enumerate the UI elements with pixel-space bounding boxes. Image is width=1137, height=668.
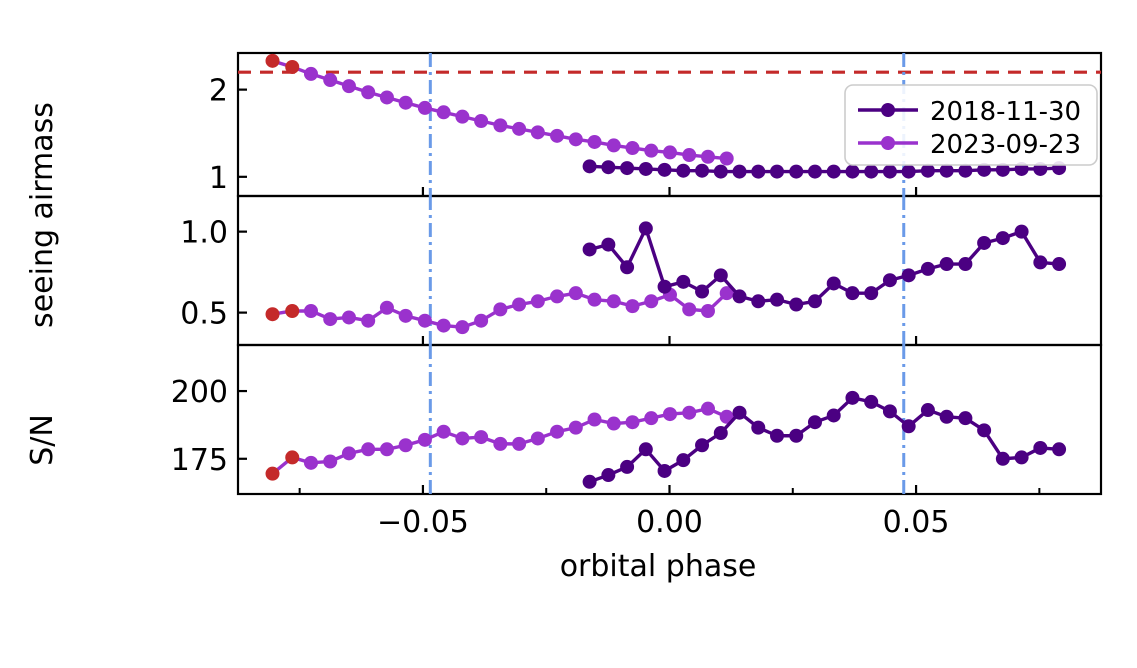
data-point-2023-09-23-6 <box>380 301 394 315</box>
data-point-2018-11-30-25 <box>1052 257 1066 271</box>
data-point-2018-11-30-14 <box>845 391 859 405</box>
xtick-label-0: −0.05 <box>377 505 469 540</box>
data-point-2023-09-23-12 <box>493 118 507 132</box>
data-point-2023-09-23-10 <box>455 110 469 124</box>
data-point-2018-11-30-20 <box>958 411 972 425</box>
data-point-2018-11-30-24 <box>1033 441 1047 455</box>
data-point-2018-11-30-9 <box>751 165 765 179</box>
data-point-2023-09-23-22 <box>682 148 696 162</box>
data-point-2018-11-30-3 <box>639 162 653 176</box>
data-point-2023-09-23-5 <box>361 85 375 99</box>
data-point-2023-09-23-14 <box>531 125 545 139</box>
data-point-2023-09-23-19 <box>626 415 640 429</box>
data-point-2023-09-23-7 <box>399 309 413 323</box>
data-point-2018-11-30-17 <box>902 165 916 179</box>
data-point-2023-09-23-1 <box>285 304 299 318</box>
data-point-2018-11-30-18 <box>921 262 935 276</box>
ytick-label-top-0: 1 <box>209 161 228 196</box>
data-point-2023-09-23-19 <box>626 299 640 313</box>
data-point-2018-11-30-16 <box>883 273 897 287</box>
data-point-2018-11-30-6 <box>695 438 709 452</box>
data-point-2018-11-30-15 <box>864 395 878 409</box>
data-point-2018-11-30-7 <box>714 165 728 179</box>
legend-label-0: 2018-11-30 <box>930 97 1081 127</box>
series-line-2023-09-23 <box>273 61 727 159</box>
data-point-2023-09-23-3 <box>323 454 337 468</box>
data-point-2018-11-30-15 <box>864 165 878 179</box>
panel-bottom <box>238 345 1066 494</box>
data-point-2018-11-30-20 <box>958 257 972 271</box>
data-point-2023-09-23-9 <box>437 105 451 119</box>
data-point-2018-11-30-18 <box>921 164 935 178</box>
data-point-2018-11-30-4 <box>658 464 672 478</box>
data-point-2018-11-30-0 <box>583 475 597 489</box>
yaxis-label-lower: S/N <box>25 414 60 466</box>
data-point-2023-09-23-10 <box>455 320 469 334</box>
data-point-2018-11-30-10 <box>770 293 784 307</box>
data-point-2018-11-30-9 <box>751 421 765 435</box>
data-point-2023-09-23-17 <box>588 135 602 149</box>
data-point-2023-09-23-3 <box>323 312 337 326</box>
data-point-2023-09-23-16 <box>569 421 583 435</box>
data-point-2023-09-23-7 <box>399 96 413 110</box>
data-point-2023-09-23-14 <box>531 431 545 445</box>
data-point-2018-11-30-10 <box>770 165 784 179</box>
data-point-2018-11-30-1 <box>601 238 615 252</box>
data-point-2018-11-30-3 <box>639 442 653 456</box>
data-point-2023-09-23-19 <box>626 141 640 155</box>
data-point-2018-11-30-4 <box>658 280 672 294</box>
data-point-2023-09-23-15 <box>550 289 564 303</box>
data-point-2023-09-23-4 <box>342 310 356 324</box>
data-point-2023-09-23-4 <box>342 79 356 93</box>
data-point-2023-09-23-6 <box>380 442 394 456</box>
xtick-label-2: 0.05 <box>883 505 950 540</box>
data-point-2023-09-23-0 <box>266 54 280 68</box>
data-point-2018-11-30-19 <box>940 257 954 271</box>
data-point-2018-11-30-17 <box>902 419 916 433</box>
data-point-2018-11-30-11 <box>789 429 803 443</box>
data-point-2023-09-23-0 <box>266 467 280 481</box>
data-point-2023-09-23-2 <box>304 304 318 318</box>
figure-container: 120.51.0175200−0.050.000.05orbital phase… <box>0 0 1137 668</box>
legend-label-1: 2023-09-23 <box>930 130 1081 160</box>
data-point-2023-09-23-9 <box>437 319 451 333</box>
ytick-label-top-1: 2 <box>209 74 228 109</box>
data-point-2018-11-30-18 <box>921 403 935 417</box>
data-point-2023-09-23-3 <box>323 73 337 87</box>
data-point-2018-11-30-4 <box>658 163 672 177</box>
data-point-2023-09-23-5 <box>361 442 375 456</box>
data-point-2023-09-23-16 <box>569 132 583 146</box>
data-point-2018-11-30-5 <box>676 164 690 178</box>
data-point-2018-11-30-21 <box>977 236 991 250</box>
data-point-2018-11-30-19 <box>940 410 954 424</box>
data-point-2018-11-30-24 <box>1033 255 1047 269</box>
data-point-2018-11-30-1 <box>601 468 615 482</box>
data-point-2023-09-23-12 <box>493 302 507 316</box>
data-point-2018-11-30-7 <box>714 426 728 440</box>
data-point-2023-09-23-8 <box>418 433 432 447</box>
yaxis-label-upper: seeing airmass <box>25 102 60 328</box>
data-point-2023-09-23-20 <box>644 144 658 158</box>
data-point-2018-11-30-22 <box>996 231 1010 245</box>
data-point-2018-11-30-5 <box>676 275 690 289</box>
data-point-2023-09-23-1 <box>285 450 299 464</box>
legend-marker-1 <box>881 136 895 150</box>
data-point-2023-09-23-16 <box>569 286 583 300</box>
data-point-2018-11-30-10 <box>770 429 784 443</box>
data-point-2018-11-30-12 <box>808 294 822 308</box>
data-point-2023-09-23-1 <box>285 60 299 74</box>
data-point-2023-09-23-10 <box>455 431 469 445</box>
data-point-2023-09-23-15 <box>550 425 564 439</box>
data-point-2018-11-30-17 <box>902 268 916 282</box>
data-point-2023-09-23-18 <box>607 417 621 431</box>
data-point-2023-09-23-8 <box>418 314 432 328</box>
data-point-2018-11-30-1 <box>601 160 615 174</box>
xtick-label-1: 0.00 <box>636 505 703 540</box>
data-point-2018-11-30-12 <box>808 415 822 429</box>
data-point-2023-09-23-15 <box>550 129 564 143</box>
data-point-2023-09-23-0 <box>266 307 280 321</box>
data-point-2023-09-23-18 <box>607 294 621 308</box>
data-point-2023-09-23-17 <box>588 413 602 427</box>
data-point-2023-09-23-13 <box>512 122 526 136</box>
data-point-2018-11-30-15 <box>864 286 878 300</box>
data-point-2018-11-30-13 <box>827 165 841 179</box>
data-point-2018-11-30-0 <box>583 159 597 173</box>
data-point-2018-11-30-6 <box>695 164 709 178</box>
data-point-2023-09-23-11 <box>474 114 488 128</box>
data-point-2018-11-30-6 <box>695 285 709 299</box>
data-point-2018-11-30-23 <box>1015 450 1029 464</box>
data-point-2018-11-30-3 <box>639 221 653 235</box>
data-point-2023-09-23-6 <box>380 90 394 104</box>
data-point-2018-11-30-14 <box>845 286 859 300</box>
data-point-2018-11-30-23 <box>1015 225 1029 239</box>
data-point-2023-09-23-22 <box>682 406 696 420</box>
data-point-2023-09-23-21 <box>663 407 677 421</box>
data-point-2023-09-23-13 <box>512 437 526 451</box>
ytick-label-middle-1: 1.0 <box>180 216 228 251</box>
chart-svg: 120.51.0175200−0.050.000.05orbital phase… <box>0 0 1137 668</box>
data-point-2018-11-30-8 <box>733 165 747 179</box>
data-point-2018-11-30-2 <box>620 161 634 175</box>
panel-middle <box>238 196 1066 345</box>
data-point-2018-11-30-9 <box>751 294 765 308</box>
data-point-2023-09-23-2 <box>304 67 318 81</box>
ytick-label-middle-0: 0.5 <box>180 297 228 332</box>
data-point-2018-11-30-11 <box>789 298 803 312</box>
data-point-2018-11-30-13 <box>827 276 841 290</box>
data-point-2018-11-30-22 <box>996 452 1010 466</box>
data-point-2023-09-23-20 <box>644 294 658 308</box>
data-point-2018-11-30-7 <box>714 268 728 282</box>
data-point-2018-11-30-12 <box>808 165 822 179</box>
data-point-2018-11-30-19 <box>940 164 954 178</box>
data-point-2023-09-23-7 <box>399 438 413 452</box>
data-point-2023-09-23-8 <box>418 101 432 115</box>
data-point-2018-11-30-2 <box>620 460 634 474</box>
data-point-2018-11-30-21 <box>977 423 991 437</box>
data-point-2023-09-23-14 <box>531 294 545 308</box>
ytick-label-bottom-0: 175 <box>171 443 228 478</box>
data-point-2018-11-30-13 <box>827 408 841 422</box>
data-point-2023-09-23-12 <box>493 437 507 451</box>
data-point-2018-11-30-0 <box>583 242 597 256</box>
data-point-2023-09-23-23 <box>701 150 715 164</box>
xaxis-label: orbital phase <box>560 549 757 584</box>
data-point-2018-11-30-16 <box>883 165 897 179</box>
data-point-2023-09-23-9 <box>437 425 451 439</box>
data-point-2023-09-23-17 <box>588 293 602 307</box>
data-point-2023-09-23-2 <box>304 456 318 470</box>
data-point-2018-11-30-11 <box>789 165 803 179</box>
data-point-2023-09-23-13 <box>512 298 526 312</box>
data-point-2023-09-23-22 <box>682 302 696 316</box>
data-point-2023-09-23-20 <box>644 411 658 425</box>
data-point-2018-11-30-2 <box>620 260 634 274</box>
data-point-2018-11-30-16 <box>883 404 897 418</box>
data-point-2023-09-23-4 <box>342 446 356 460</box>
data-point-2018-11-30-25 <box>1052 442 1066 456</box>
legend-marker-0 <box>881 103 895 117</box>
data-point-2018-11-30-14 <box>845 165 859 179</box>
data-point-2023-09-23-11 <box>474 430 488 444</box>
data-point-2018-11-30-5 <box>676 453 690 467</box>
data-point-2023-09-23-21 <box>663 145 677 159</box>
data-point-2018-11-30-8 <box>733 406 747 420</box>
data-point-2018-11-30-8 <box>733 289 747 303</box>
data-point-2023-09-23-23 <box>701 402 715 416</box>
data-point-2018-11-30-20 <box>958 164 972 178</box>
data-point-2023-09-23-24 <box>720 152 734 166</box>
data-point-2023-09-23-5 <box>361 314 375 328</box>
data-point-2023-09-23-18 <box>607 138 621 152</box>
data-point-2023-09-23-23 <box>701 304 715 318</box>
ytick-label-bottom-1: 200 <box>171 375 228 410</box>
data-point-2023-09-23-11 <box>474 314 488 328</box>
